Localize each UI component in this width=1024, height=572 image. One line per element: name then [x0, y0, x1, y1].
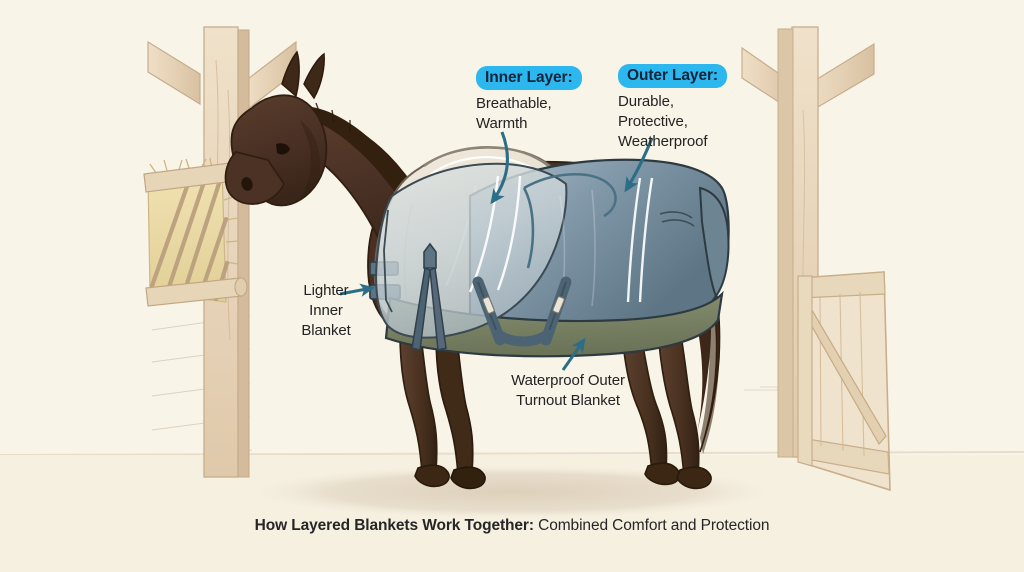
stable-door	[798, 272, 890, 490]
outer-layer-body: Durable, Protective, Weatherproof	[618, 92, 727, 151]
inner-layer-badge: Inner Layer:	[476, 66, 582, 90]
label-waterproof-outer-turnout-blanket: Waterproof Outer Turnout Blanket	[470, 371, 666, 411]
outer-layer-badge: Outer Layer:	[618, 64, 727, 88]
outer-turnout-blanket	[376, 160, 728, 357]
callout-outer-layer: Outer Layer: Durable, Protective, Weathe…	[618, 64, 727, 152]
caption-rest: Combined Comfort and Protection	[534, 517, 769, 534]
page-caption: How Layered Blankets Work Together: Comb…	[0, 517, 1024, 535]
callout-inner-layer: Inner Layer: Breathable, Warmth	[476, 66, 582, 134]
caption-bold: How Layered Blankets Work Together:	[255, 517, 534, 534]
inner-layer-body: Breathable, Warmth	[476, 94, 582, 134]
label-lighter-inner-blanket: Lighter Inner Blanket	[280, 281, 372, 341]
illustration-canvas: Inner Layer: Breathable, Warmth Outer La…	[0, 0, 1024, 572]
